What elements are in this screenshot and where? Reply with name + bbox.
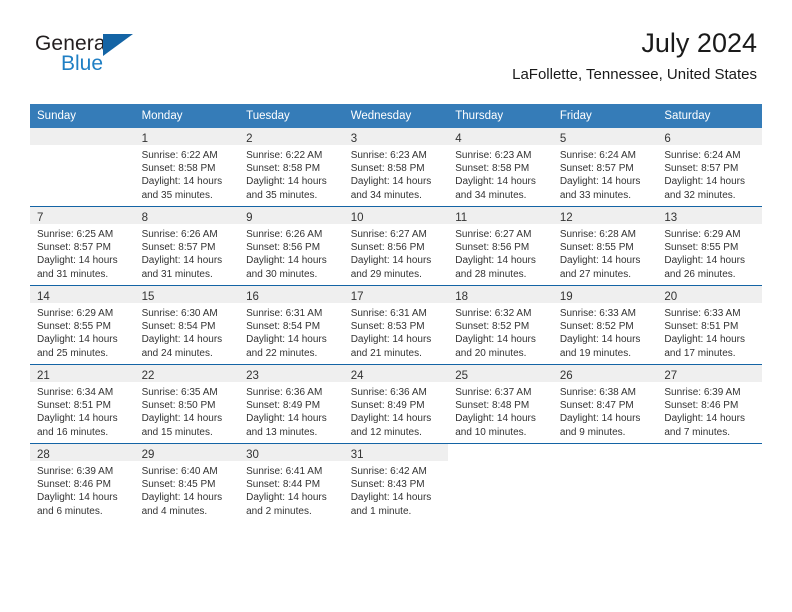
location-subtitle: LaFollette, Tennessee, United States	[512, 64, 757, 86]
calendar-week-row: 28Sunrise: 6:39 AMSunset: 8:46 PMDayligh…	[30, 444, 762, 523]
daylight-duration-line1: Daylight: 14 hours	[664, 412, 756, 425]
calendar-day-cell[interactable]: 24Sunrise: 6:36 AMSunset: 8:49 PMDayligh…	[344, 365, 449, 444]
sunset-time: Sunset: 8:52 PM	[455, 320, 547, 333]
calendar-day-cell[interactable]: 10Sunrise: 6:27 AMSunset: 8:56 PMDayligh…	[344, 207, 449, 286]
weekday-header-monday: Monday	[135, 104, 240, 128]
daylight-duration-line1: Daylight: 14 hours	[246, 254, 338, 267]
day-cell-content: 15Sunrise: 6:30 AMSunset: 8:54 PMDayligh…	[135, 286, 240, 364]
daylight-duration-line2: and 15 minutes.	[142, 426, 234, 439]
day-number-band: 1	[135, 128, 240, 145]
day-details: Sunrise: 6:35 AMSunset: 8:50 PMDaylight:…	[135, 382, 240, 439]
daylight-duration-line1: Daylight: 14 hours	[246, 175, 338, 188]
sunset-time: Sunset: 8:55 PM	[37, 320, 129, 333]
sunset-time: Sunset: 8:57 PM	[560, 162, 652, 175]
daylight-duration-line2: and 31 minutes.	[142, 268, 234, 281]
sunset-time: Sunset: 8:58 PM	[246, 162, 338, 175]
daylight-duration-line2: and 24 minutes.	[142, 347, 234, 360]
daylight-duration-line2: and 35 minutes.	[246, 189, 338, 202]
day-cell-content: 1Sunrise: 6:22 AMSunset: 8:58 PMDaylight…	[135, 128, 240, 206]
day-cell-content: 8Sunrise: 6:26 AMSunset: 8:57 PMDaylight…	[135, 207, 240, 285]
calendar-day-cell[interactable]: 19Sunrise: 6:33 AMSunset: 8:52 PMDayligh…	[553, 286, 658, 365]
day-details: Sunrise: 6:39 AMSunset: 8:46 PMDaylight:…	[657, 382, 762, 439]
daylight-duration-line2: and 10 minutes.	[455, 426, 547, 439]
sunrise-time: Sunrise: 6:25 AM	[37, 228, 129, 241]
daylight-duration-line2: and 32 minutes.	[664, 189, 756, 202]
page-header: General Blue July 2024 LaFollette, Tenne…	[35, 26, 757, 98]
day-cell-content: 13Sunrise: 6:29 AMSunset: 8:55 PMDayligh…	[657, 207, 762, 285]
daylight-duration-line1: Daylight: 14 hours	[37, 333, 129, 346]
sunset-time: Sunset: 8:58 PM	[351, 162, 443, 175]
calendar-day-cell[interactable]: 28Sunrise: 6:39 AMSunset: 8:46 PMDayligh…	[30, 444, 135, 523]
daylight-duration-line2: and 25 minutes.	[37, 347, 129, 360]
day-cell-content: 19Sunrise: 6:33 AMSunset: 8:52 PMDayligh…	[553, 286, 658, 364]
day-cell-content: 14Sunrise: 6:29 AMSunset: 8:55 PMDayligh…	[30, 286, 135, 364]
day-cell-content: 5Sunrise: 6:24 AMSunset: 8:57 PMDaylight…	[553, 128, 658, 206]
page-title: July 2024	[512, 26, 757, 60]
daylight-duration-line2: and 33 minutes.	[560, 189, 652, 202]
day-details: Sunrise: 6:23 AMSunset: 8:58 PMDaylight:…	[448, 145, 553, 202]
daylight-duration-line2: and 1 minute.	[351, 505, 443, 518]
sunset-time: Sunset: 8:46 PM	[37, 478, 129, 491]
day-number-band: 5	[553, 128, 658, 145]
daylight-duration-line1: Daylight: 14 hours	[142, 254, 234, 267]
daylight-duration-line2: and 27 minutes.	[560, 268, 652, 281]
sunrise-time: Sunrise: 6:36 AM	[351, 386, 443, 399]
sunset-time: Sunset: 8:44 PM	[246, 478, 338, 491]
day-number-band: 27	[657, 365, 762, 382]
day-number-band: 17	[344, 286, 449, 303]
sunrise-time: Sunrise: 6:35 AM	[142, 386, 234, 399]
weekday-header-wednesday: Wednesday	[344, 104, 449, 128]
day-number: 22	[142, 370, 155, 382]
calendar-day-cell[interactable]: 23Sunrise: 6:36 AMSunset: 8:49 PMDayligh…	[239, 365, 344, 444]
day-cell-content	[30, 128, 135, 206]
day-number: 16	[246, 291, 259, 303]
sunset-time: Sunset: 8:54 PM	[246, 320, 338, 333]
calendar-day-cell[interactable]: 5Sunrise: 6:24 AMSunset: 8:57 PMDaylight…	[553, 128, 658, 207]
daylight-duration-line1: Daylight: 14 hours	[37, 254, 129, 267]
daylight-duration-line1: Daylight: 14 hours	[351, 175, 443, 188]
sunset-time: Sunset: 8:58 PM	[455, 162, 547, 175]
day-number: 4	[455, 133, 461, 145]
daylight-duration-line1: Daylight: 14 hours	[664, 333, 756, 346]
daylight-duration-line1: Daylight: 14 hours	[455, 254, 547, 267]
calendar-day-cell	[448, 444, 553, 523]
day-details: Sunrise: 6:26 AMSunset: 8:57 PMDaylight:…	[135, 224, 240, 281]
calendar-day-cell	[553, 444, 658, 523]
day-cell-content: 28Sunrise: 6:39 AMSunset: 8:46 PMDayligh…	[30, 444, 135, 522]
calendar-day-cell[interactable]: 2Sunrise: 6:22 AMSunset: 8:58 PMDaylight…	[239, 128, 344, 207]
day-details: Sunrise: 6:31 AMSunset: 8:53 PMDaylight:…	[344, 303, 449, 360]
day-number: 23	[246, 370, 259, 382]
weekday-header-friday: Friday	[553, 104, 658, 128]
calendar-week-row: 7Sunrise: 6:25 AMSunset: 8:57 PMDaylight…	[30, 207, 762, 286]
day-number-band: 16	[239, 286, 344, 303]
daylight-duration-line2: and 26 minutes.	[664, 268, 756, 281]
day-cell-content	[448, 444, 553, 522]
day-number-band: 26	[553, 365, 658, 382]
day-number-band: 10	[344, 207, 449, 224]
daylight-duration-line1: Daylight: 14 hours	[664, 254, 756, 267]
calendar-day-cell[interactable]: 9Sunrise: 6:26 AMSunset: 8:56 PMDaylight…	[239, 207, 344, 286]
daylight-duration-line1: Daylight: 14 hours	[351, 491, 443, 504]
day-cell-content: 22Sunrise: 6:35 AMSunset: 8:50 PMDayligh…	[135, 365, 240, 443]
day-cell-content: 18Sunrise: 6:32 AMSunset: 8:52 PMDayligh…	[448, 286, 553, 364]
weekday-header-thursday: Thursday	[448, 104, 553, 128]
calendar-day-cell[interactable]: 8Sunrise: 6:26 AMSunset: 8:57 PMDaylight…	[135, 207, 240, 286]
daylight-duration-line2: and 22 minutes.	[246, 347, 338, 360]
sunrise-time: Sunrise: 6:34 AM	[37, 386, 129, 399]
sunset-time: Sunset: 8:50 PM	[142, 399, 234, 412]
weekday-header-saturday: Saturday	[657, 104, 762, 128]
day-number: 11	[455, 212, 467, 224]
sunset-time: Sunset: 8:51 PM	[37, 399, 129, 412]
day-number: 18	[455, 291, 468, 303]
calendar-day-cell[interactable]: 12Sunrise: 6:28 AMSunset: 8:55 PMDayligh…	[553, 207, 658, 286]
sunrise-time: Sunrise: 6:27 AM	[455, 228, 547, 241]
sunset-time: Sunset: 8:52 PM	[560, 320, 652, 333]
sunrise-time: Sunrise: 6:24 AM	[560, 149, 652, 162]
sunrise-time: Sunrise: 6:33 AM	[664, 307, 756, 320]
calendar-day-cell[interactable]: 14Sunrise: 6:29 AMSunset: 8:55 PMDayligh…	[30, 286, 135, 365]
day-cell-content: 25Sunrise: 6:37 AMSunset: 8:48 PMDayligh…	[448, 365, 553, 443]
daylight-duration-line1: Daylight: 14 hours	[142, 412, 234, 425]
daylight-duration-line2: and 31 minutes.	[37, 268, 129, 281]
day-cell-content: 31Sunrise: 6:42 AMSunset: 8:43 PMDayligh…	[344, 444, 449, 522]
sunrise-time: Sunrise: 6:36 AM	[246, 386, 338, 399]
day-number-band: 8	[135, 207, 240, 224]
daylight-duration-line2: and 6 minutes.	[37, 505, 129, 518]
day-number-band: 11	[448, 207, 553, 224]
sunset-time: Sunset: 8:43 PM	[351, 478, 443, 491]
day-details: Sunrise: 6:32 AMSunset: 8:52 PMDaylight:…	[448, 303, 553, 360]
sunrise-time: Sunrise: 6:31 AM	[351, 307, 443, 320]
sunset-time: Sunset: 8:53 PM	[351, 320, 443, 333]
day-number: 6	[664, 133, 670, 145]
calendar-day-cell[interactable]: 4Sunrise: 6:23 AMSunset: 8:58 PMDaylight…	[448, 128, 553, 207]
day-cell-content: 12Sunrise: 6:28 AMSunset: 8:55 PMDayligh…	[553, 207, 658, 285]
day-details: Sunrise: 6:24 AMSunset: 8:57 PMDaylight:…	[553, 145, 658, 202]
day-cell-content: 21Sunrise: 6:34 AMSunset: 8:51 PMDayligh…	[30, 365, 135, 443]
sunrise-time: Sunrise: 6:37 AM	[455, 386, 547, 399]
daylight-duration-line2: and 13 minutes.	[246, 426, 338, 439]
day-details: Sunrise: 6:30 AMSunset: 8:54 PMDaylight:…	[135, 303, 240, 360]
day-number: 14	[37, 291, 50, 303]
calendar-day-cell[interactable]: 26Sunrise: 6:38 AMSunset: 8:47 PMDayligh…	[553, 365, 658, 444]
sunrise-time: Sunrise: 6:31 AM	[246, 307, 338, 320]
day-details: Sunrise: 6:42 AMSunset: 8:43 PMDaylight:…	[344, 461, 449, 518]
day-number: 21	[37, 370, 50, 382]
day-details: Sunrise: 6:33 AMSunset: 8:51 PMDaylight:…	[657, 303, 762, 360]
daylight-duration-line2: and 17 minutes.	[664, 347, 756, 360]
daylight-duration-line2: and 9 minutes.	[560, 426, 652, 439]
calendar-day-cell[interactable]: 29Sunrise: 6:40 AMSunset: 8:45 PMDayligh…	[135, 444, 240, 523]
day-cell-content: 6Sunrise: 6:24 AMSunset: 8:57 PMDaylight…	[657, 128, 762, 206]
sunset-time: Sunset: 8:55 PM	[560, 241, 652, 254]
daylight-duration-line1: Daylight: 14 hours	[351, 254, 443, 267]
calendar-day-cell[interactable]: 7Sunrise: 6:25 AMSunset: 8:57 PMDaylight…	[30, 207, 135, 286]
sunset-time: Sunset: 8:54 PM	[142, 320, 234, 333]
daylight-duration-line1: Daylight: 14 hours	[37, 412, 129, 425]
day-number: 26	[560, 370, 573, 382]
day-number-band: 3	[344, 128, 449, 145]
daylight-duration-line1: Daylight: 14 hours	[560, 412, 652, 425]
calendar-day-cell[interactable]: 31Sunrise: 6:42 AMSunset: 8:43 PMDayligh…	[344, 444, 449, 523]
sunrise-sunset-calendar: Sunday Monday Tuesday Wednesday Thursday…	[30, 104, 762, 522]
calendar-day-cell	[657, 444, 762, 523]
sunrise-time: Sunrise: 6:22 AM	[246, 149, 338, 162]
day-details: Sunrise: 6:26 AMSunset: 8:56 PMDaylight:…	[239, 224, 344, 281]
day-details: Sunrise: 6:29 AMSunset: 8:55 PMDaylight:…	[30, 303, 135, 360]
daylight-duration-line1: Daylight: 14 hours	[455, 412, 547, 425]
day-number: 25	[455, 370, 468, 382]
daylight-duration-line1: Daylight: 14 hours	[142, 491, 234, 504]
daylight-duration-line1: Daylight: 14 hours	[560, 254, 652, 267]
day-cell-content: 9Sunrise: 6:26 AMSunset: 8:56 PMDaylight…	[239, 207, 344, 285]
calendar-day-cell[interactable]: 6Sunrise: 6:24 AMSunset: 8:57 PMDaylight…	[657, 128, 762, 207]
sunset-time: Sunset: 8:57 PM	[664, 162, 756, 175]
day-number: 20	[664, 291, 677, 303]
day-number: 17	[351, 291, 364, 303]
sunset-time: Sunset: 8:55 PM	[664, 241, 756, 254]
day-number: 15	[142, 291, 155, 303]
daylight-duration-line2: and 19 minutes.	[560, 347, 652, 360]
calendar-day-cell	[30, 128, 135, 207]
day-details: Sunrise: 6:38 AMSunset: 8:47 PMDaylight:…	[553, 382, 658, 439]
day-cell-content: 16Sunrise: 6:31 AMSunset: 8:54 PMDayligh…	[239, 286, 344, 364]
sunrise-time: Sunrise: 6:26 AM	[142, 228, 234, 241]
calendar-day-cell[interactable]: 22Sunrise: 6:35 AMSunset: 8:50 PMDayligh…	[135, 365, 240, 444]
brand-logo[interactable]: General Blue	[35, 32, 165, 82]
sunrise-time: Sunrise: 6:26 AM	[246, 228, 338, 241]
sunrise-time: Sunrise: 6:23 AM	[455, 149, 547, 162]
daylight-duration-line1: Daylight: 14 hours	[560, 333, 652, 346]
day-number: 3	[351, 133, 357, 145]
calendar-header-row: Sunday Monday Tuesday Wednesday Thursday…	[30, 104, 762, 128]
day-number: 2	[246, 133, 252, 145]
day-number: 29	[142, 449, 155, 461]
sunset-time: Sunset: 8:57 PM	[37, 241, 129, 254]
daylight-duration-line1: Daylight: 14 hours	[664, 175, 756, 188]
day-number: 31	[351, 449, 364, 461]
sunrise-time: Sunrise: 6:40 AM	[142, 465, 234, 478]
sunset-time: Sunset: 8:47 PM	[560, 399, 652, 412]
daylight-duration-line2: and 30 minutes.	[246, 268, 338, 281]
daylight-duration-line1: Daylight: 14 hours	[560, 175, 652, 188]
day-number-band: 31	[344, 444, 449, 461]
daylight-duration-line2: and 34 minutes.	[455, 189, 547, 202]
calendar-day-cell[interactable]: 20Sunrise: 6:33 AMSunset: 8:51 PMDayligh…	[657, 286, 762, 365]
calendar-day-cell[interactable]: 15Sunrise: 6:30 AMSunset: 8:54 PMDayligh…	[135, 286, 240, 365]
day-cell-content: 30Sunrise: 6:41 AMSunset: 8:44 PMDayligh…	[239, 444, 344, 522]
sunset-time: Sunset: 8:49 PM	[351, 399, 443, 412]
day-cell-content: 2Sunrise: 6:22 AMSunset: 8:58 PMDaylight…	[239, 128, 344, 206]
day-details: Sunrise: 6:41 AMSunset: 8:44 PMDaylight:…	[239, 461, 344, 518]
day-number-band: 19	[553, 286, 658, 303]
calendar-day-cell[interactable]: 18Sunrise: 6:32 AMSunset: 8:52 PMDayligh…	[448, 286, 553, 365]
day-number: 19	[560, 291, 573, 303]
day-cell-content: 20Sunrise: 6:33 AMSunset: 8:51 PMDayligh…	[657, 286, 762, 364]
day-details: Sunrise: 6:25 AMSunset: 8:57 PMDaylight:…	[30, 224, 135, 281]
day-number-band: 7	[30, 207, 135, 224]
weekday-header-row: Sunday Monday Tuesday Wednesday Thursday…	[30, 104, 762, 128]
calendar-day-cell[interactable]: 16Sunrise: 6:31 AMSunset: 8:54 PMDayligh…	[239, 286, 344, 365]
day-number-band: 2	[239, 128, 344, 145]
daylight-duration-line2: and 28 minutes.	[455, 268, 547, 281]
sunset-time: Sunset: 8:46 PM	[664, 399, 756, 412]
daylight-duration-line1: Daylight: 14 hours	[142, 333, 234, 346]
sunrise-time: Sunrise: 6:41 AM	[246, 465, 338, 478]
weekday-header-tuesday: Tuesday	[239, 104, 344, 128]
day-cell-content: 11Sunrise: 6:27 AMSunset: 8:56 PMDayligh…	[448, 207, 553, 285]
title-block: July 2024 LaFollette, Tennessee, United …	[512, 26, 757, 86]
brand-name-blue: Blue	[61, 52, 103, 76]
daylight-duration-line2: and 4 minutes.	[142, 505, 234, 518]
calendar-week-row: 21Sunrise: 6:34 AMSunset: 8:51 PMDayligh…	[30, 365, 762, 444]
calendar-day-cell[interactable]: 11Sunrise: 6:27 AMSunset: 8:56 PMDayligh…	[448, 207, 553, 286]
sunrise-time: Sunrise: 6:29 AM	[37, 307, 129, 320]
day-number-band: 4	[448, 128, 553, 145]
day-details: Sunrise: 6:36 AMSunset: 8:49 PMDaylight:…	[344, 382, 449, 439]
day-number: 10	[351, 212, 364, 224]
daylight-duration-line1: Daylight: 14 hours	[246, 412, 338, 425]
sunrise-time: Sunrise: 6:23 AM	[351, 149, 443, 162]
calendar-page: General Blue July 2024 LaFollette, Tenne…	[0, 0, 792, 612]
day-number-band: 24	[344, 365, 449, 382]
sunset-time: Sunset: 8:51 PM	[664, 320, 756, 333]
daylight-duration-line1: Daylight: 14 hours	[351, 412, 443, 425]
day-cell-content: 24Sunrise: 6:36 AMSunset: 8:49 PMDayligh…	[344, 365, 449, 443]
day-cell-content: 7Sunrise: 6:25 AMSunset: 8:57 PMDaylight…	[30, 207, 135, 285]
calendar-day-cell[interactable]: 13Sunrise: 6:29 AMSunset: 8:55 PMDayligh…	[657, 207, 762, 286]
day-cell-content: 29Sunrise: 6:40 AMSunset: 8:45 PMDayligh…	[135, 444, 240, 522]
day-number-band: 20	[657, 286, 762, 303]
day-number-band: 6	[657, 128, 762, 145]
day-number-band: 18	[448, 286, 553, 303]
day-number-band: 9	[239, 207, 344, 224]
day-number: 13	[664, 212, 677, 224]
calendar-day-cell[interactable]: 1Sunrise: 6:22 AMSunset: 8:58 PMDaylight…	[135, 128, 240, 207]
daylight-duration-line2: and 20 minutes.	[455, 347, 547, 360]
daylight-duration-line2: and 29 minutes.	[351, 268, 443, 281]
day-number: 8	[142, 212, 148, 224]
sunrise-time: Sunrise: 6:24 AM	[664, 149, 756, 162]
daylight-duration-line1: Daylight: 14 hours	[37, 491, 129, 504]
day-number-band: 23	[239, 365, 344, 382]
day-details: Sunrise: 6:23 AMSunset: 8:58 PMDaylight:…	[344, 145, 449, 202]
sunset-time: Sunset: 8:56 PM	[455, 241, 547, 254]
day-number-band: 25	[448, 365, 553, 382]
daylight-duration-line2: and 21 minutes.	[351, 347, 443, 360]
day-details: Sunrise: 6:33 AMSunset: 8:52 PMDaylight:…	[553, 303, 658, 360]
sunset-time: Sunset: 8:45 PM	[142, 478, 234, 491]
day-number: 9	[246, 212, 252, 224]
day-details: Sunrise: 6:27 AMSunset: 8:56 PMDaylight:…	[344, 224, 449, 281]
sunrise-time: Sunrise: 6:22 AM	[142, 149, 234, 162]
day-details: Sunrise: 6:27 AMSunset: 8:56 PMDaylight:…	[448, 224, 553, 281]
day-number: 1	[142, 133, 148, 145]
day-details: Sunrise: 6:24 AMSunset: 8:57 PMDaylight:…	[657, 145, 762, 202]
sunrise-time: Sunrise: 6:30 AM	[142, 307, 234, 320]
daylight-duration-line1: Daylight: 14 hours	[142, 175, 234, 188]
day-number-band: 30	[239, 444, 344, 461]
calendar-day-cell[interactable]: 25Sunrise: 6:37 AMSunset: 8:48 PMDayligh…	[448, 365, 553, 444]
day-number-band: 21	[30, 365, 135, 382]
day-details: Sunrise: 6:40 AMSunset: 8:45 PMDaylight:…	[135, 461, 240, 518]
blue-triangle-flag-icon	[103, 34, 133, 56]
daylight-duration-line1: Daylight: 14 hours	[351, 333, 443, 346]
sunset-time: Sunset: 8:49 PM	[246, 399, 338, 412]
sunset-time: Sunset: 8:48 PM	[455, 399, 547, 412]
sunrise-time: Sunrise: 6:29 AM	[664, 228, 756, 241]
calendar-body: 1Sunrise: 6:22 AMSunset: 8:58 PMDaylight…	[30, 128, 762, 522]
calendar-day-cell[interactable]: 30Sunrise: 6:41 AMSunset: 8:44 PMDayligh…	[239, 444, 344, 523]
sunrise-time: Sunrise: 6:28 AM	[560, 228, 652, 241]
day-number: 30	[246, 449, 259, 461]
calendar-week-row: 14Sunrise: 6:29 AMSunset: 8:55 PMDayligh…	[30, 286, 762, 365]
day-number-band: 14	[30, 286, 135, 303]
sunrise-time: Sunrise: 6:27 AM	[351, 228, 443, 241]
calendar-day-cell[interactable]: 21Sunrise: 6:34 AMSunset: 8:51 PMDayligh…	[30, 365, 135, 444]
day-number-band	[30, 128, 135, 145]
day-number: 12	[560, 212, 573, 224]
day-cell-content: 23Sunrise: 6:36 AMSunset: 8:49 PMDayligh…	[239, 365, 344, 443]
sunrise-time: Sunrise: 6:42 AM	[351, 465, 443, 478]
day-cell-content	[553, 444, 658, 522]
calendar-day-cell[interactable]: 3Sunrise: 6:23 AMSunset: 8:58 PMDaylight…	[344, 128, 449, 207]
sunrise-time: Sunrise: 6:32 AM	[455, 307, 547, 320]
daylight-duration-line1: Daylight: 14 hours	[246, 333, 338, 346]
day-details: Sunrise: 6:34 AMSunset: 8:51 PMDaylight:…	[30, 382, 135, 439]
sunrise-time: Sunrise: 6:38 AM	[560, 386, 652, 399]
daylight-duration-line2: and 35 minutes.	[142, 189, 234, 202]
sunrise-time: Sunrise: 6:33 AM	[560, 307, 652, 320]
day-number-band: 15	[135, 286, 240, 303]
day-number-band: 29	[135, 444, 240, 461]
daylight-duration-line2: and 12 minutes.	[351, 426, 443, 439]
sunset-time: Sunset: 8:56 PM	[246, 241, 338, 254]
day-number-band: 13	[657, 207, 762, 224]
day-number: 28	[37, 449, 50, 461]
daylight-duration-line1: Daylight: 14 hours	[455, 333, 547, 346]
day-number-band: 22	[135, 365, 240, 382]
day-details: Sunrise: 6:37 AMSunset: 8:48 PMDaylight:…	[448, 382, 553, 439]
daylight-duration-line2: and 2 minutes.	[246, 505, 338, 518]
day-number-band: 12	[553, 207, 658, 224]
day-number: 5	[560, 133, 566, 145]
day-details: Sunrise: 6:39 AMSunset: 8:46 PMDaylight:…	[30, 461, 135, 518]
daylight-duration-line2: and 7 minutes.	[664, 426, 756, 439]
day-number: 7	[37, 212, 43, 224]
sunrise-time: Sunrise: 6:39 AM	[37, 465, 129, 478]
sunset-time: Sunset: 8:58 PM	[142, 162, 234, 175]
sunrise-time: Sunrise: 6:39 AM	[664, 386, 756, 399]
daylight-duration-line1: Daylight: 14 hours	[246, 491, 338, 504]
day-number: 24	[351, 370, 364, 382]
day-cell-content	[657, 444, 762, 522]
day-cell-content: 3Sunrise: 6:23 AMSunset: 8:58 PMDaylight…	[344, 128, 449, 206]
day-cell-content: 27Sunrise: 6:39 AMSunset: 8:46 PMDayligh…	[657, 365, 762, 443]
day-details: Sunrise: 6:28 AMSunset: 8:55 PMDaylight:…	[553, 224, 658, 281]
calendar-day-cell[interactable]: 27Sunrise: 6:39 AMSunset: 8:46 PMDayligh…	[657, 365, 762, 444]
calendar-day-cell[interactable]: 17Sunrise: 6:31 AMSunset: 8:53 PMDayligh…	[344, 286, 449, 365]
day-details: Sunrise: 6:22 AMSunset: 8:58 PMDaylight:…	[239, 145, 344, 202]
day-details: Sunrise: 6:31 AMSunset: 8:54 PMDaylight:…	[239, 303, 344, 360]
calendar-week-row: 1Sunrise: 6:22 AMSunset: 8:58 PMDaylight…	[30, 128, 762, 207]
daylight-duration-line2: and 16 minutes.	[37, 426, 129, 439]
day-cell-content: 10Sunrise: 6:27 AMSunset: 8:56 PMDayligh…	[344, 207, 449, 285]
daylight-duration-line2: and 34 minutes.	[351, 189, 443, 202]
